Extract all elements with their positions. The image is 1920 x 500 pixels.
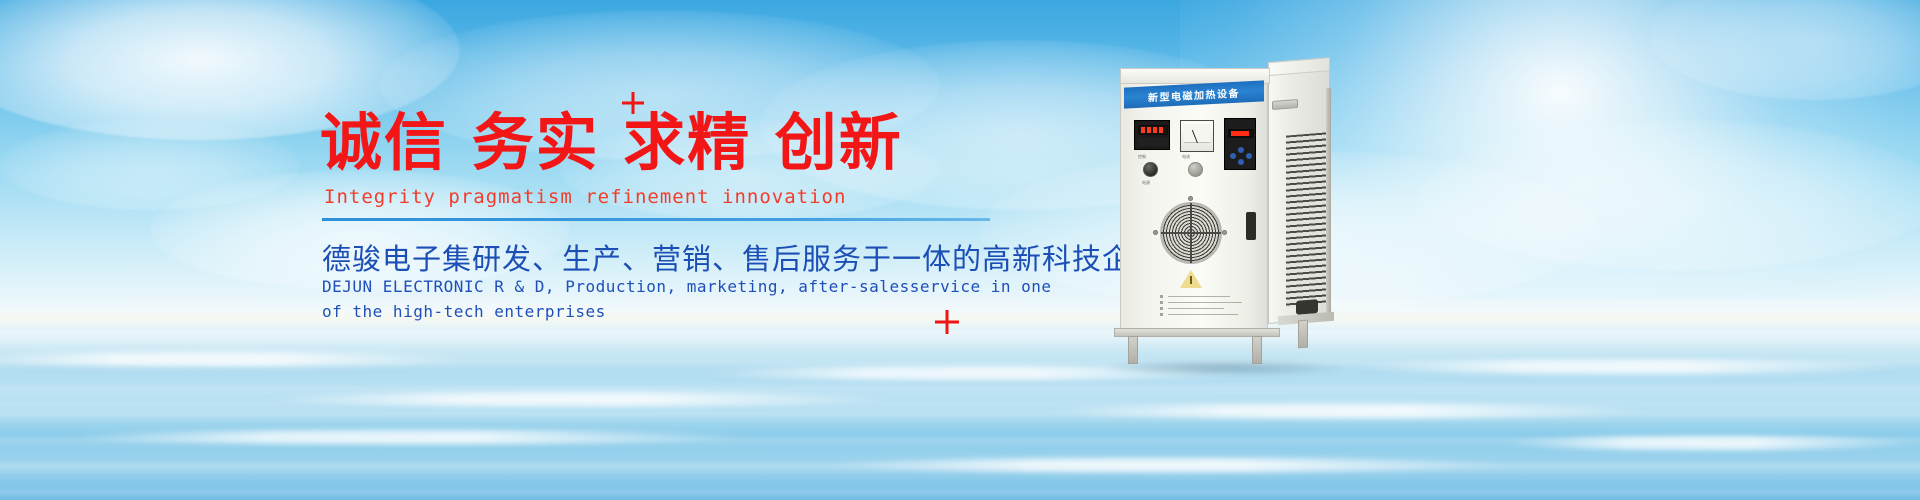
leg (1128, 336, 1138, 364)
panel-label-right: 电流 (1182, 154, 1190, 160)
page-title: 诚信 务实 求精 创新 (320, 112, 903, 174)
inverter-keypad-panel (1224, 118, 1256, 170)
rotary-knob (1188, 162, 1203, 177)
inverter-key-down (1238, 159, 1244, 165)
cabinet-side-edge (1326, 88, 1331, 318)
screw (1153, 230, 1158, 235)
front-handle-slot (1246, 212, 1256, 240)
product-brand-label-text: 新型电磁加热设备 (1148, 85, 1240, 105)
inverter-display (1228, 129, 1254, 138)
inverter-key-left (1230, 153, 1236, 159)
inverter-key-up (1238, 147, 1244, 153)
screw (1188, 196, 1193, 201)
inverter-keys (1230, 147, 1252, 165)
digital-controller (1134, 120, 1170, 150)
description-english: DEJUN ELECTRONIC R & D, Production, mark… (322, 274, 1052, 324)
product-shadow (1106, 360, 1342, 376)
spec-label (1160, 294, 1246, 324)
leg (1252, 336, 1262, 364)
promo-banner: 诚信 务实 求精 创新 Integrity pragmatism refinem… (0, 0, 1920, 500)
ventilation-slots (1286, 132, 1326, 307)
panel-label-bottom: 电源 (1142, 180, 1150, 186)
description-english-line-1: DEJUN ELECTRONIC R & D, Production, mark… (322, 277, 1052, 296)
description-chinese: 德骏电子集研发、生产、营销、售后服务于一体的高新科技企业 (322, 236, 1162, 278)
divider (322, 218, 990, 221)
digital-controller-secondary-row (1138, 138, 1168, 146)
panel-label-left: 控制 (1138, 154, 1146, 160)
selector-knob (1143, 162, 1158, 177)
headline-english-subtitle: Integrity pragmatism refinement innovati… (324, 186, 846, 208)
screw (1222, 230, 1227, 235)
banner-copy: 诚信 务实 求精 创新 Integrity pragmatism refinem… (320, 0, 1080, 500)
description-english-line-2: of the high-tech enterprises (322, 299, 1052, 324)
analog-gauge (1180, 120, 1214, 152)
warning-triangle-icon (1180, 270, 1202, 288)
product-image-heating-machine: 新型电磁加热设备 控制 电流 电源 (1120, 62, 1340, 362)
cooling-fan-icon (1160, 202, 1222, 264)
inverter-key-right (1246, 153, 1252, 159)
leg (1298, 320, 1308, 349)
digital-controller-screen (1138, 125, 1168, 135)
